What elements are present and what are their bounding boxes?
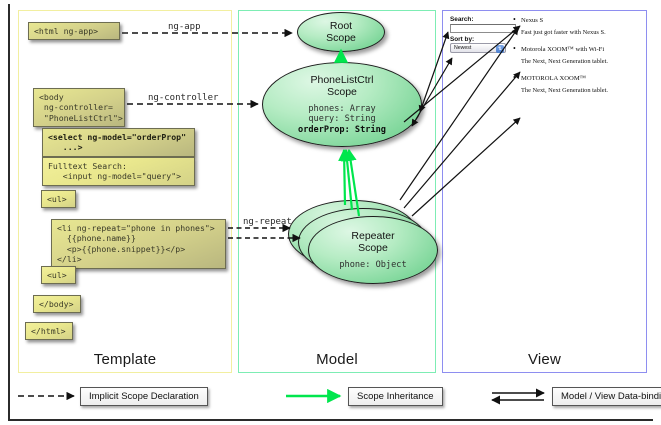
legend: Implicit Scope Declaration Scope Inherit… — [18, 386, 650, 414]
code-block-body: <body ng-controller= "PhoneListCtrl"> — [33, 88, 125, 127]
list-item[interactable]: Motorola XOOM™ with Wi-Fi The Next, Next… — [512, 45, 642, 66]
sort-by-select[interactable]: Newest ⇅ — [450, 43, 506, 53]
label-ng-repeat: ng-repeat — [243, 217, 292, 227]
panel-view-label: View — [443, 351, 646, 368]
phone-name: MOTOROLA XOOM™ — [512, 74, 642, 83]
scope-repeater-title-1: Repeater — [351, 230, 394, 243]
list-item[interactable]: Nexus S Fast just got faster with Nexus … — [512, 16, 642, 37]
legend-entry-databinding: Model / View Data-binding — [490, 386, 661, 406]
code-block-select: <select ng-model="orderProp" ...> — [42, 128, 195, 157]
angularjs-scope-diagram: Template Model View <html ng-app> <body … — [0, 0, 661, 425]
scope-repeater-title-2: Scope — [351, 242, 394, 255]
sort-by-selected-value: Newest — [454, 45, 471, 51]
scope-repeater: Repeater Scope phone: Object — [308, 216, 438, 284]
legend-label-implicit: Implicit Scope Declaration — [80, 387, 208, 406]
scope-repeater-prop-phone: phone: Object — [339, 260, 406, 270]
legend-entry-inheritance: Scope Inheritance — [286, 386, 443, 406]
scope-root: Root Scope — [297, 12, 385, 52]
label-ng-controller: ng-controller — [148, 93, 218, 103]
scope-ctrl-prop-query: query: String — [298, 114, 386, 124]
code-block-li-repeat: <li ng-repeat="phone in phones"> {{phone… — [51, 219, 226, 269]
label-ng-app: ng-app — [168, 22, 201, 32]
scope-ctrl-title-1: PhoneListCtrl — [310, 74, 373, 87]
legend-label-inheritance: Scope Inheritance — [348, 387, 443, 406]
phone-snippet: The Next, Next Generation tablet. — [512, 87, 642, 95]
list-item[interactable]: MOTOROLA XOOM™ The Next, Next Generation… — [512, 74, 642, 95]
scope-root-title-2: Scope — [326, 32, 356, 45]
code-block-ul-open: <ul> — [41, 190, 76, 208]
scope-ctrl-title-2: Scope — [310, 86, 373, 99]
search-input[interactable] — [450, 24, 516, 33]
phone-name: Nexus S — [512, 16, 642, 25]
dashed-arrow-icon — [18, 386, 80, 406]
phone-name: Motorola XOOM™ with Wi-Fi — [512, 45, 642, 54]
legend-label-databinding: Model / View Data-binding — [552, 387, 661, 406]
code-block-search: Fulltext Search: <input ng-model="query"… — [42, 157, 195, 186]
phone-snippet: The Next, Next Generation tablet. — [512, 58, 642, 66]
double-arrow-icon — [490, 386, 552, 406]
code-block-html: <html ng-app> — [28, 22, 120, 40]
green-arrow-icon — [286, 386, 348, 406]
scope-ctrl-prop-orderprop: orderProp: String — [298, 125, 386, 135]
panel-template-label: Template — [19, 351, 231, 368]
scope-phonelistctrl: PhoneListCtrl Scope phones: Array query:… — [262, 62, 422, 147]
code-block-body-close: </body> — [33, 295, 81, 313]
chevron-updown-icon: ⇅ — [496, 45, 504, 53]
code-block-html-close: </html> — [25, 322, 73, 340]
phone-snippet: Fast just got faster with Nexus S. — [512, 29, 642, 37]
scope-root-title-1: Root — [326, 20, 356, 33]
view-rendered-app: Search: Sort by: Newest ⇅ Nexus S Fast j… — [450, 16, 642, 126]
phone-list: Nexus S Fast just got faster with Nexus … — [512, 16, 642, 103]
scope-ctrl-prop-phones: phones: Array — [298, 104, 386, 114]
legend-entry-implicit: Implicit Scope Declaration — [18, 386, 208, 406]
panel-model-label: Model — [239, 351, 435, 368]
code-block-ul-close: <ul> — [41, 266, 76, 284]
